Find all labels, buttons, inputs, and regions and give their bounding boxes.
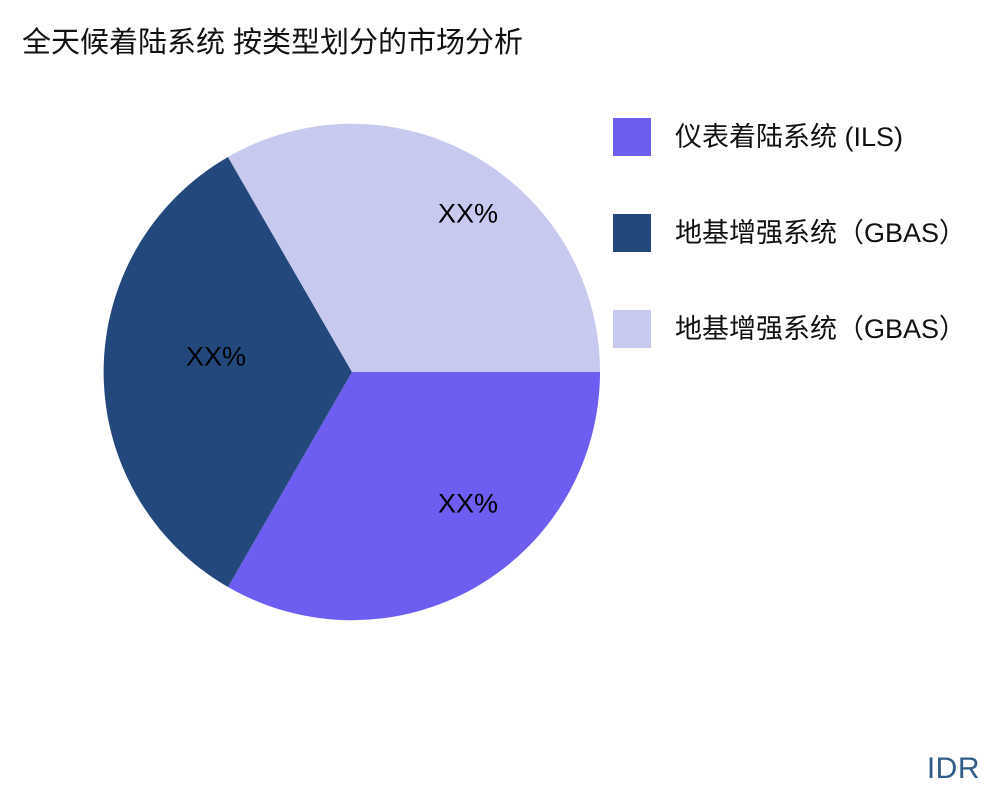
legend-item-gbas-dark[interactable]: 地基增强系统（GBAS） bbox=[613, 208, 1000, 304]
legend-item-label: 仪表着陆系统 (ILS) bbox=[675, 112, 903, 162]
legend-item-label: 地基增强系统（GBAS） bbox=[675, 208, 966, 258]
legend-item-ils[interactable]: 仪表着陆系统 (ILS) bbox=[613, 112, 1000, 208]
legend-color-swatch bbox=[613, 118, 651, 156]
legend-color-swatch bbox=[613, 214, 651, 252]
brand-watermark: IDR bbox=[927, 752, 980, 786]
legend-item-gbas-light[interactable]: 地基增强系统（GBAS） bbox=[613, 304, 1000, 400]
pie-chart-figure: 全天候着陆系统 按类型划分的市场分析 XX% XX% XX% 仪表着陆系统 (I… bbox=[0, 0, 1000, 800]
pie-svg bbox=[0, 0, 620, 700]
legend-color-swatch bbox=[613, 310, 651, 348]
legend-item-label: 地基增强系统（GBAS） bbox=[675, 304, 966, 354]
legend: 仪表着陆系统 (ILS) 地基增强系统（GBAS） 地基增强系统（GBAS） bbox=[613, 112, 1000, 400]
slice-value-label: XX% bbox=[438, 201, 498, 228]
slice-value-label: XX% bbox=[438, 491, 498, 518]
slice-value-label: XX% bbox=[186, 344, 246, 371]
pie-plot-area: XX% XX% XX% bbox=[0, 0, 620, 700]
